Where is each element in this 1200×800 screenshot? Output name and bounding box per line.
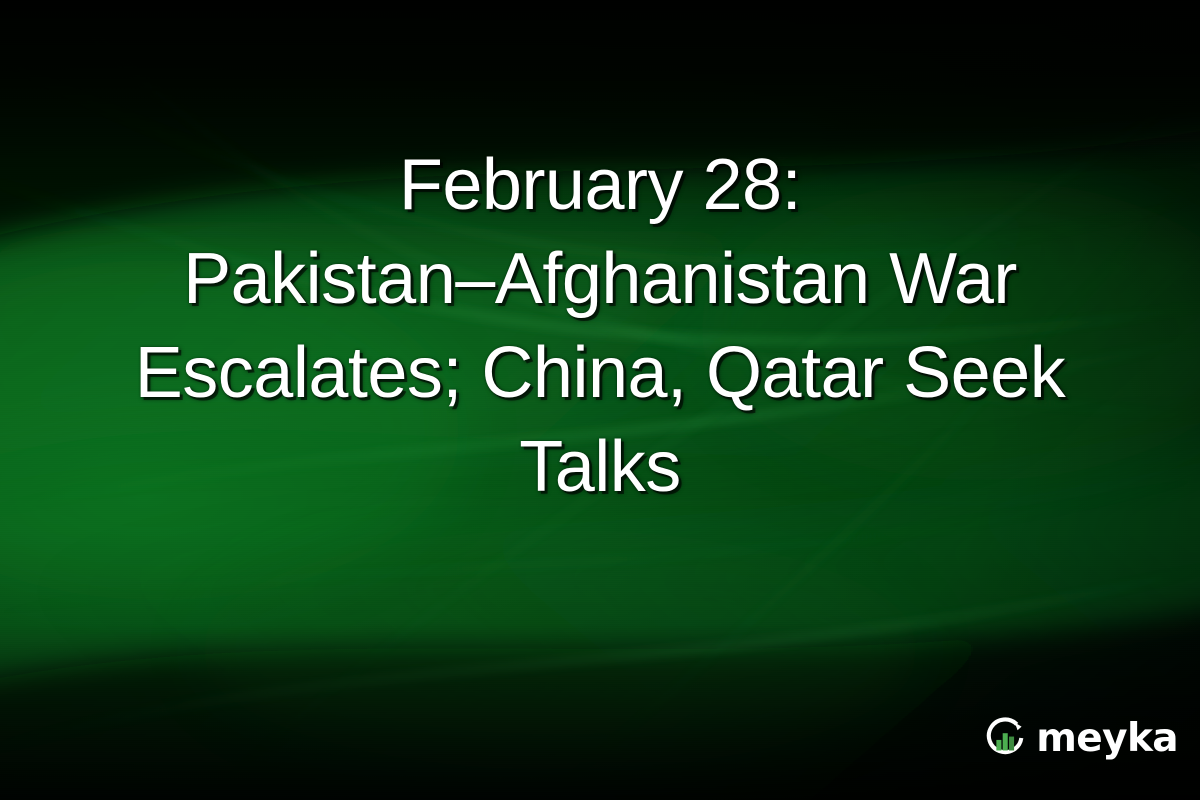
meyka-circular-chart-logo-icon	[981, 714, 1029, 762]
headline-container: February 28: Pakistan–Afghanistan War Es…	[0, 138, 1200, 514]
meyka-wordmark: meyka	[1036, 719, 1178, 758]
slide-canvas: February 28: Pakistan–Afghanistan War Es…	[0, 0, 1200, 800]
meyka-logo[interactable]: meyka	[981, 714, 1178, 762]
page-title: February 28: Pakistan–Afghanistan War Es…	[55, 138, 1145, 514]
